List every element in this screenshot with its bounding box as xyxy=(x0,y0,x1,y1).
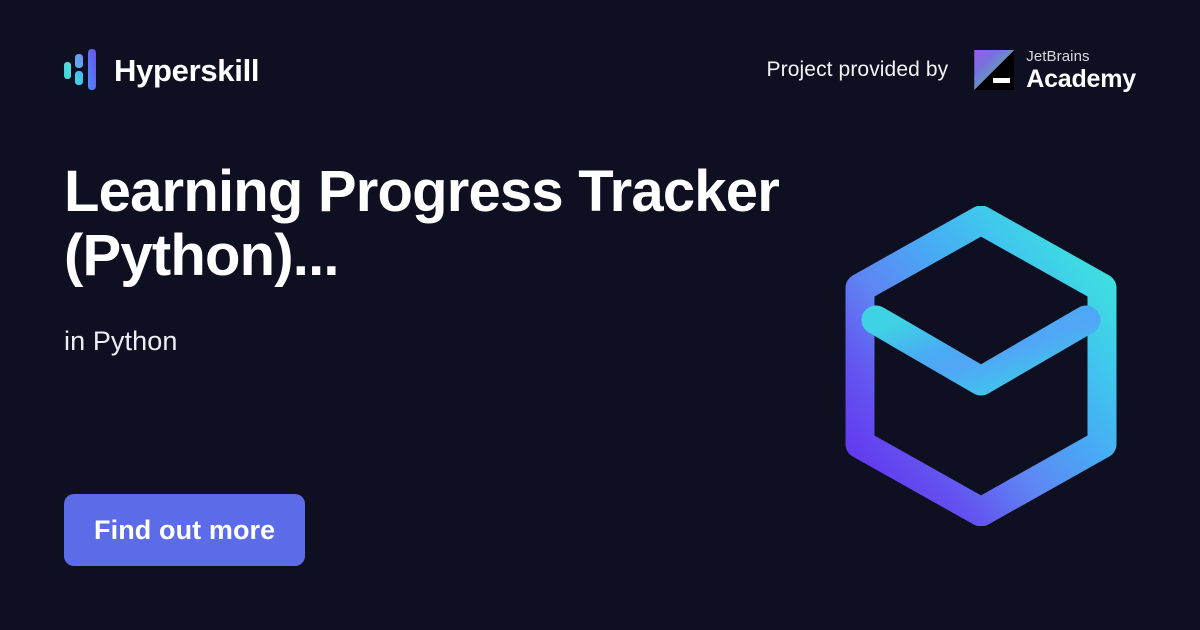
page-title: Learning Progress Tracker (Python)... xyxy=(64,160,784,288)
header: Hyperskill Project provided by JetBrains… xyxy=(0,0,1200,140)
jetbrains-academy-logo[interactable]: JetBrains Academy xyxy=(974,49,1136,92)
hyperskill-hexagon-cube-icon xyxy=(840,206,1122,526)
provided-by-label: Project provided by xyxy=(767,58,949,82)
brand-name: Hyperskill xyxy=(114,55,259,86)
main-content: Learning Progress Tracker (Python)... in… xyxy=(64,160,804,357)
provider-block: Project provided by JetBrains Academy xyxy=(767,49,1136,92)
jetbrains-label: JetBrains xyxy=(1026,49,1136,64)
jetbrains-academy-wordmark: JetBrains Academy xyxy=(1026,49,1136,92)
academy-label: Academy xyxy=(1026,67,1136,92)
hyperskill-brand[interactable]: Hyperskill xyxy=(64,46,259,94)
find-out-more-button[interactable]: Find out more xyxy=(64,494,305,566)
promo-card: Hyperskill Project provided by JetBrains… xyxy=(0,0,1200,630)
page-subtitle: in Python xyxy=(64,326,804,357)
jetbrains-square-icon xyxy=(974,50,1014,90)
hyperskill-bars-icon xyxy=(64,49,98,91)
